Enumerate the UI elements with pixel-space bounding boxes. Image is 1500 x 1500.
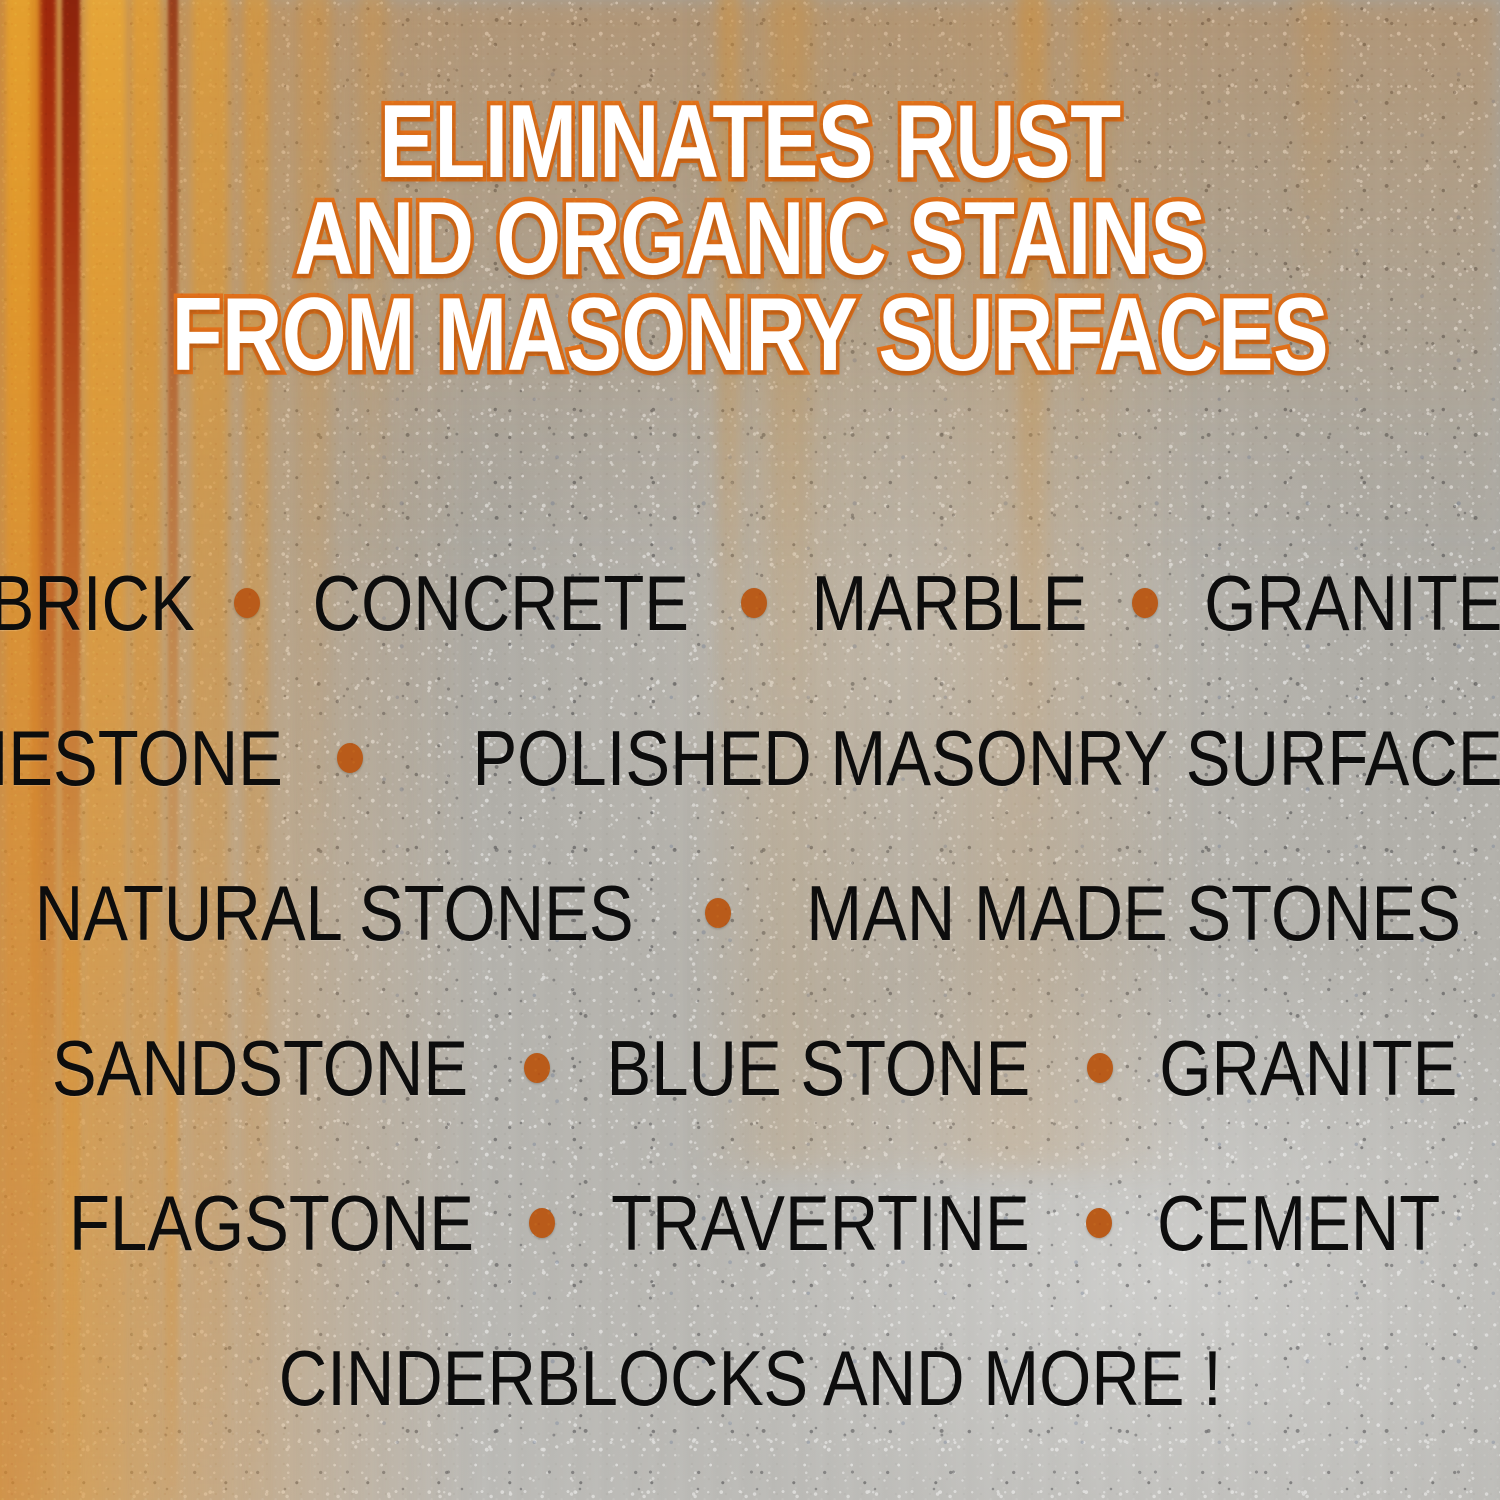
surface-type-label: BLUE STONE (607, 1029, 1031, 1107)
surface-type-label: CEMENT (1157, 1184, 1440, 1262)
bullet-dot-icon (234, 588, 260, 618)
bullet-dot-icon (524, 1053, 550, 1083)
surface-type-label: LIMESTONE (0, 719, 283, 797)
surface-type-label: GRANITE (1204, 564, 1500, 642)
surface-type-label: FLAGSTONE (69, 1184, 474, 1262)
surface-type-label: POLISHED MASONRY SURFACES (472, 719, 1500, 797)
surface-row: CINDERBLOCKS AND MORE ! (0, 1300, 1500, 1455)
surface-type-label: BRICK (0, 564, 195, 642)
surface-type-label: GRANITE (1159, 1029, 1457, 1107)
surface-type-list: BRICKCONCRETEMARBLEGRANITELIMESTONEPOLIS… (0, 525, 1500, 1455)
bullet-dot-icon (529, 1208, 555, 1238)
headline-line-1: ELIMINATES RUST (150, 94, 1350, 191)
surface-type-label: MARBLE (812, 564, 1088, 642)
surface-row: NATURAL STONESMAN MADE STONES (0, 835, 1500, 990)
surface-type-label: SANDSTONE (52, 1029, 468, 1107)
surface-type-label: TRAVERTINE (611, 1184, 1030, 1262)
surface-type-label: NATURAL STONES (35, 874, 634, 952)
surface-type-label: CINDERBLOCKS AND MORE ! (278, 1339, 1221, 1417)
surface-row: LIMESTONEPOLISHED MASONRY SURFACES (0, 680, 1500, 835)
headline-line-2: AND ORGANIC STAINS (150, 191, 1350, 288)
surface-row: FLAGSTONETRAVERTINECEMENT (0, 1145, 1500, 1300)
surface-row: SANDSTONEBLUE STONEGRANITE (0, 990, 1500, 1145)
bullet-dot-icon (1087, 1053, 1113, 1083)
product-feature-poster: ELIMINATES RUST AND ORGANIC STAINS FROM … (0, 0, 1500, 1500)
bullet-dot-icon (741, 588, 767, 618)
bullet-dot-icon (705, 898, 731, 928)
bullet-dot-icon (1086, 1208, 1112, 1238)
surface-type-label: CONCRETE (312, 564, 688, 642)
headline-line-3: FROM MASONRY SURFACES (150, 287, 1350, 384)
surface-type-label: MAN MADE STONES (806, 874, 1461, 952)
surface-row: BRICKCONCRETEMARBLEGRANITE (0, 525, 1500, 680)
headline-block: ELIMINATES RUST AND ORGANIC STAINS FROM … (0, 94, 1500, 384)
bullet-dot-icon (337, 743, 363, 773)
bullet-dot-icon (1132, 588, 1158, 618)
